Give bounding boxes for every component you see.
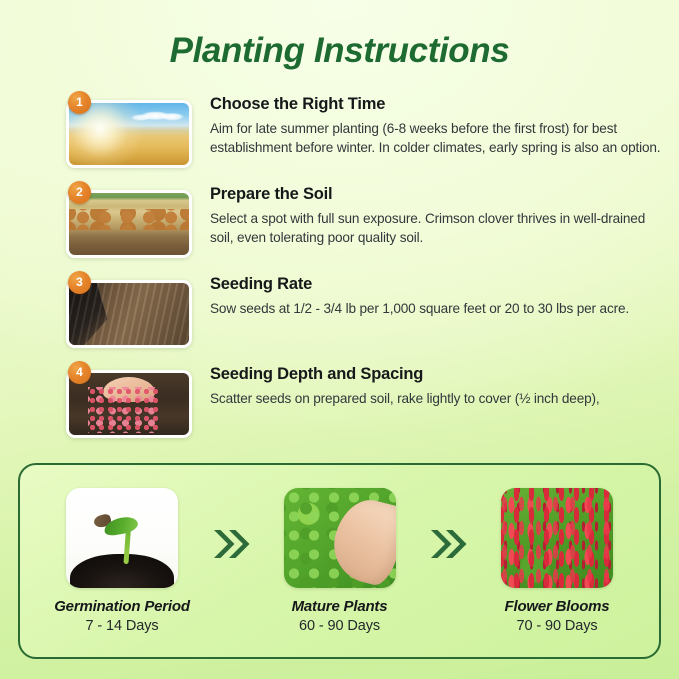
timeline-stage: Germination Period 7 - 14 Days bbox=[42, 488, 202, 634]
clover-foliage-with-hand-photo bbox=[284, 488, 396, 588]
page-title: Planting Instructions bbox=[0, 0, 679, 68]
timeline-stage: Flower Blooms 70 - 90 Days bbox=[477, 488, 637, 634]
seedling-sprout-photo bbox=[66, 488, 178, 588]
timeline-stage-days: 70 - 90 Days bbox=[477, 618, 637, 634]
step-number-badge: 1 bbox=[68, 91, 91, 114]
step-number-badge: 4 bbox=[68, 361, 91, 384]
step-description: Aim for late summer planting (6-8 weeks … bbox=[210, 119, 665, 158]
step-item: 3 Seeding Rate Sow seeds at 1/2 - 3/4 lb… bbox=[66, 270, 665, 348]
step-number-badge: 3 bbox=[68, 271, 91, 294]
step-thumbnail-wrap: 2 bbox=[66, 190, 192, 258]
step-number-badge: 2 bbox=[68, 181, 91, 204]
step-title: Seeding Rate bbox=[210, 274, 665, 295]
step-text: Seeding Depth and Spacing Scatter seeds … bbox=[192, 360, 665, 408]
step-title: Seeding Depth and Spacing bbox=[210, 364, 665, 385]
crimson-clover-blooms-photo bbox=[501, 488, 613, 588]
step-text: Choose the Right Time Aim for late summe… bbox=[192, 90, 665, 157]
step-item: 1 Choose the Right Time Aim for late sum… bbox=[66, 90, 665, 168]
step-title: Prepare the Soil bbox=[210, 184, 665, 205]
step-thumbnail-wrap: 4 bbox=[66, 370, 192, 438]
step-item: 2 Prepare the Soil Select a spot with fu… bbox=[66, 180, 665, 258]
steps-list: 1 Choose the Right Time Aim for late sum… bbox=[0, 90, 679, 438]
timeline-stage-days: 7 - 14 Days bbox=[42, 618, 202, 634]
step-title: Choose the Right Time bbox=[210, 94, 665, 115]
double-chevron-right-icon bbox=[425, 522, 471, 566]
step-text: Prepare the Soil Select a spot with full… bbox=[192, 180, 665, 247]
step-thumbnail-wrap: 1 bbox=[66, 100, 192, 168]
step-thumbnail-wrap: 3 bbox=[66, 280, 192, 348]
double-chevron-right-icon bbox=[208, 522, 254, 566]
timeline-stage-days: 60 - 90 Days bbox=[260, 618, 420, 634]
step-text: Seeding Rate Sow seeds at 1/2 - 3/4 lb p… bbox=[192, 270, 665, 318]
timeline-stage: Mature Plants 60 - 90 Days bbox=[260, 488, 420, 634]
step-description: Scatter seeds on prepared soil, rake lig… bbox=[210, 389, 665, 408]
step-description: Sow seeds at 1/2 - 3/4 lb per 1,000 squa… bbox=[210, 299, 665, 318]
timeline-stage-name: Mature Plants bbox=[260, 598, 420, 616]
infographic-page: Planting Instructions 1 Choose the Right… bbox=[0, 0, 679, 679]
timeline-stage-name: Germination Period bbox=[42, 598, 202, 616]
step-description: Select a spot with full sun exposure. Cr… bbox=[210, 209, 665, 248]
step-item: 4 Seeding Depth and Spacing Scatter seed… bbox=[66, 360, 665, 438]
timeline-stage-name: Flower Blooms bbox=[477, 598, 637, 616]
growth-timeline-panel: Germination Period 7 - 14 Days Mature Pl… bbox=[18, 463, 661, 659]
